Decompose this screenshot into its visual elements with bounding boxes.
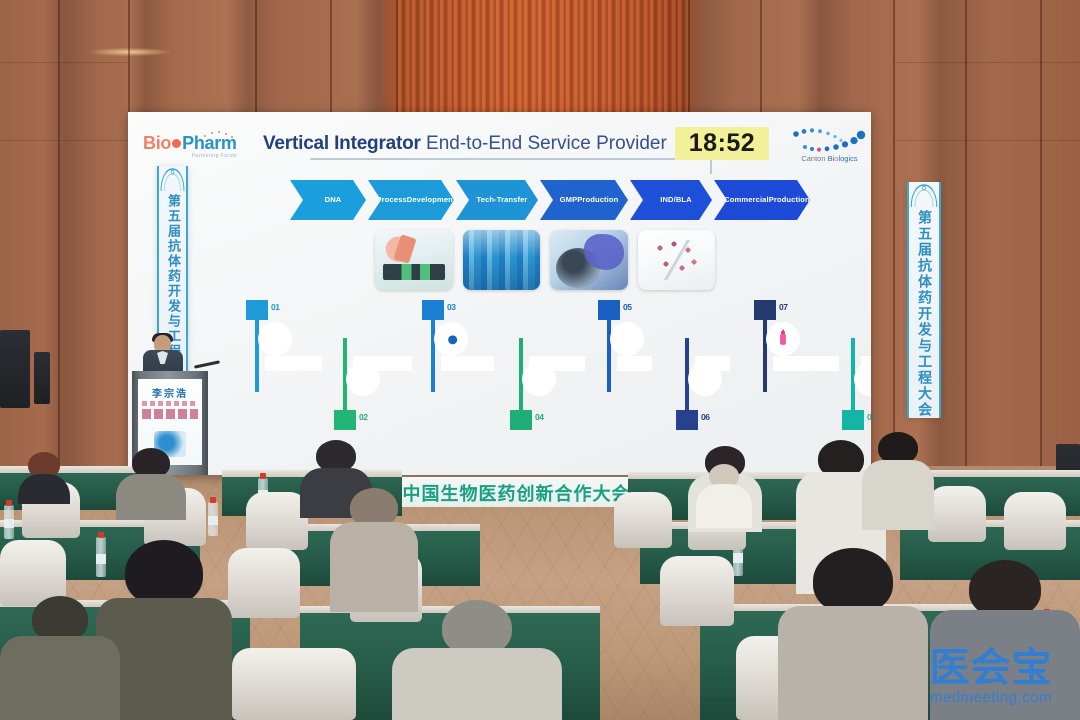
node-label-pill: Sequence <box>265 356 322 371</box>
speaker-name: 李宗浩 <box>138 385 202 400</box>
audience-chair <box>246 492 308 550</box>
canton-biologics-logo: Canton Biologics <box>783 128 871 172</box>
wall-panel-line <box>0 62 130 63</box>
slide-title: Vertical Integrator End-to-End Service P… <box>263 133 663 155</box>
node-label-pill: Feasibility <box>353 356 412 371</box>
audience-member <box>18 452 70 500</box>
process-chevron-2: ProcessDevelopment <box>368 180 454 220</box>
node-anchor-block <box>334 410 356 430</box>
node-connector-stem <box>607 318 611 392</box>
vertical-banner-right: 第五届抗体药开发与工程大会 <box>907 182 941 418</box>
banner-crown-ornament <box>159 166 186 192</box>
title-underline <box>310 158 710 160</box>
audience-member <box>0 596 120 720</box>
dna-swoosh-icon <box>791 128 871 154</box>
node-connector-stem <box>255 318 259 392</box>
person-torso <box>0 636 120 720</box>
audience-chair <box>1004 492 1066 550</box>
wall-seam <box>58 0 60 470</box>
node-anchor-block <box>598 300 620 320</box>
node-number-badge: 01 <box>271 302 279 312</box>
workflow-node-row: Sequence01Feasibility02Cell Line03Cell B… <box>238 300 858 430</box>
audience-chair <box>928 486 986 542</box>
process-chevron-3: Tech-Transfer <box>456 180 538 220</box>
chevron-label-line: Transfer <box>497 195 528 204</box>
syringe-icon <box>766 322 800 356</box>
person-torso <box>696 484 752 528</box>
audience-member <box>696 464 752 524</box>
biopharm-logo-left: BioPharm Partnering Forum <box>143 134 239 164</box>
slide-header: BioPharm Partnering Forum Vertical Integ… <box>128 120 871 172</box>
timer-value: 18:52 <box>689 129 755 158</box>
presentation-slide: BioPharm Partnering Forum Vertical Integ… <box>128 112 871 475</box>
logo-tagline: Partnering Forum <box>143 154 239 159</box>
cell-icon <box>434 322 468 356</box>
filled-vials-photo <box>638 230 716 290</box>
wall-seam <box>893 0 895 470</box>
audience-member <box>330 488 418 608</box>
pipetting-tray-photo <box>375 230 453 290</box>
bioreactor-suite-photo <box>463 230 541 290</box>
person-head <box>813 548 893 614</box>
pa-speaker-left <box>0 330 30 408</box>
chevron-label-line: DNA <box>325 195 342 204</box>
person-torso <box>116 474 186 520</box>
photo-thumbnail-row <box>375 230 715 292</box>
water-bottle <box>208 502 218 536</box>
audience-member <box>778 548 928 720</box>
canton-logo-text: Canton Biologics <box>783 154 871 163</box>
process-chevron-1: DNA <box>290 180 366 220</box>
node-connector-stem <box>763 318 767 392</box>
node-number-badge: 04 <box>535 412 543 422</box>
chevron-label-line: Commercial <box>724 195 768 204</box>
node-anchor-block <box>754 300 776 320</box>
countdown-timer: 18:52 <box>675 127 769 160</box>
node-number-badge: 03 <box>447 302 455 312</box>
wall-seam <box>1040 0 1042 470</box>
centrifuge-photo <box>550 230 628 290</box>
banner-crown-ornament <box>909 182 939 208</box>
node-label-pill: DSP <box>695 356 730 371</box>
person-head <box>125 540 203 606</box>
node-number-badge: 07 <box>779 302 787 312</box>
process-chevron-6: CommercialProduction <box>714 180 810 220</box>
watermark: 医会宝 medmeeting.com <box>908 648 1074 714</box>
person-torso <box>862 460 934 530</box>
audience-chair <box>660 556 734 626</box>
sparkle-dots-icon <box>201 131 235 139</box>
person-torso <box>392 648 562 720</box>
chevron-label-line: Production <box>577 195 618 204</box>
node-anchor-block <box>842 410 864 430</box>
watermark-url-text: medmeeting.com <box>908 689 1074 706</box>
sign-subtitle-line-2 <box>142 409 198 419</box>
chevron-label-line: Tech- <box>477 195 497 204</box>
chevron-label-line: Process <box>376 195 406 204</box>
process-chevron-row: DNAProcessDevelopmentTech-TransferGMPPro… <box>290 180 820 220</box>
node-connector-stem <box>431 318 435 392</box>
slide-title-bold: Vertical Integrator <box>263 133 421 154</box>
node-number-badge: 02 <box>359 412 367 422</box>
node-number-badge: 05 <box>623 302 631 312</box>
projection-screen: BioPharm Partnering Forum Vertical Integ… <box>128 112 871 475</box>
person-torso <box>18 474 70 504</box>
node-label-pill: Fill & Finish <box>773 356 839 371</box>
node-label-pill: USP <box>617 356 652 371</box>
audience-chair <box>614 492 672 548</box>
conference-photo-scene: BioPharm Partnering Forum Vertical Integ… <box>0 0 1080 720</box>
chevron-label-line: IND/BLA <box>660 195 692 204</box>
node-anchor-block <box>676 410 698 430</box>
banner-right-text: 第五届抗体药开发与工程大会 <box>914 210 934 418</box>
audience-chair <box>232 648 356 720</box>
process-chevron-4: GMPProduction <box>540 180 628 220</box>
wall-light-glow <box>90 48 170 56</box>
logo-dot-icon <box>172 139 181 148</box>
process-chevron-5: IND/BLA <box>630 180 712 220</box>
logo-bio-text: Bio <box>143 133 171 153</box>
person-torso <box>778 606 928 720</box>
node-number-badge: 08 <box>867 412 871 422</box>
wall-panel-line <box>0 140 130 141</box>
node-anchor-block <box>246 300 268 320</box>
slide-title-light: End-to-End Service Provider <box>426 133 667 154</box>
node-label-pill: Analytics <box>861 356 871 371</box>
chevron-label-line: Production <box>769 195 810 204</box>
person-torso <box>330 522 418 612</box>
node-label-pill: Cell Line <box>441 356 494 371</box>
wall-seam <box>965 0 967 470</box>
wall-panel-line <box>895 62 1080 63</box>
node-anchor-block <box>510 410 532 430</box>
node-label-pill: Cell Bank <box>529 356 585 371</box>
sign-subtitle-line <box>142 401 198 406</box>
node-anchor-block <box>422 300 444 320</box>
water-bottle <box>4 505 14 539</box>
wall-panel-line <box>895 140 1080 141</box>
dna-icon <box>258 322 292 356</box>
workflow-node-analytics: Analytics08 <box>834 300 871 430</box>
watermark-cn-text: 医会宝 <box>908 648 1074 688</box>
node-number-badge: 06 <box>701 412 709 422</box>
audience-chair <box>228 548 300 618</box>
audience-member <box>862 432 934 528</box>
pa-speaker-left-small <box>34 352 50 404</box>
audience-member <box>392 600 562 720</box>
chevron-label-line: Development <box>407 195 456 204</box>
bioreactor-icon <box>610 322 644 356</box>
audience-member <box>116 448 186 516</box>
chevron-label-line: GMP <box>560 195 578 204</box>
